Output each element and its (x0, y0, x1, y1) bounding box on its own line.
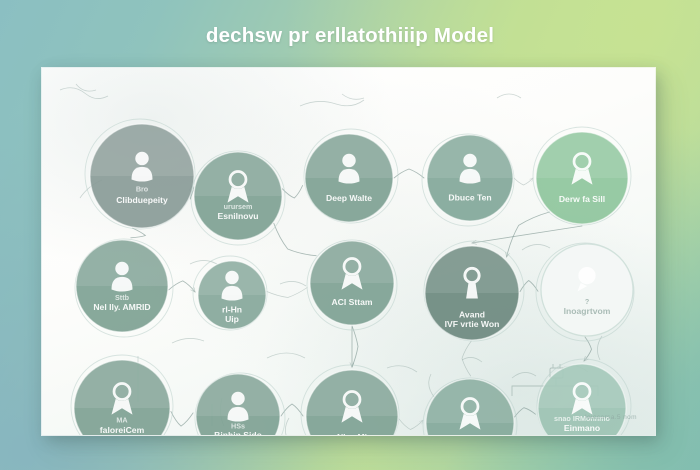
diagram-node[interactable]: MAfaloreiCem (71, 355, 173, 435)
diagram-node[interactable]: Derw fa Sill (533, 127, 631, 225)
node-label: rl-Hn (222, 305, 242, 315)
node-label: Inoagrtvom (564, 306, 611, 316)
diagram-nodes-layer: BroClibduepeityurursemEsnilnovuDeep Walt… (42, 68, 655, 435)
node-label: Esnilnovu (217, 211, 258, 221)
node-sublabel: Bro (136, 185, 149, 194)
diagram-node[interactable]: SttbNel Ily. AMRID (75, 239, 173, 337)
diagram-node[interactable]: urursemEsnilnovu (191, 151, 285, 245)
node-label: Deep Walte (326, 193, 372, 203)
diagram-node[interactable]: Dbuce Ten (422, 134, 514, 226)
node-label: Derw fa Sill (559, 194, 605, 204)
node-label: Einmano (564, 423, 600, 433)
node-label: faloreiCem (100, 425, 145, 435)
node-label: Avand (459, 309, 485, 319)
node-label: Clibduepeity (116, 195, 168, 205)
node-group: BroClibduepeityurursemEsnilnovuDeep Walt… (71, 119, 634, 435)
diagram-node[interactable]: ?Inoagrtvom (536, 243, 634, 341)
diagram-node[interactable]: snao IRMonnmoEinmano (537, 359, 631, 435)
node-label: Dbuce Ten (448, 192, 491, 202)
card-footer-note: leiocorsa.5 nom (585, 414, 637, 421)
diagram-node[interactable]: Mhuunin VINan agrcaa (423, 378, 517, 435)
node-sublabel: MA (116, 415, 127, 424)
node-label: IVF vrtie Won (445, 319, 500, 329)
page-title: dechsw pr erllatothiiip Model (0, 24, 700, 48)
node-sublabel: ? (585, 297, 589, 306)
node-sublabel: urursem (224, 202, 253, 211)
diagram-card: BroClibduepeityurursemEsnilnovuDeep Walt… (42, 68, 655, 435)
diagram-node[interactable]: Nlay MiNhanou BG-cOng (301, 365, 399, 435)
node-label: Binhin Sido (214, 430, 262, 435)
diagram-node[interactable]: rl-HnUip (193, 256, 267, 330)
diagram-node[interactable]: AvandIVF vrtie Won (424, 241, 524, 341)
node-label: ACI Sttam (331, 297, 372, 307)
node-label: Nlay Mi (337, 432, 367, 435)
diagram-node[interactable]: BroClibduepeity (85, 119, 195, 229)
diagram-node[interactable]: HSsBinhin Sido (195, 373, 285, 435)
node-label: Nel Ily. AMRID (93, 302, 150, 312)
node-sublabel: Sttb (115, 293, 130, 302)
node-label: Uip (225, 314, 239, 324)
diagram-node[interactable]: ACI Sttam (307, 240, 397, 330)
diagram-node[interactable]: Deep Walte (304, 129, 398, 223)
